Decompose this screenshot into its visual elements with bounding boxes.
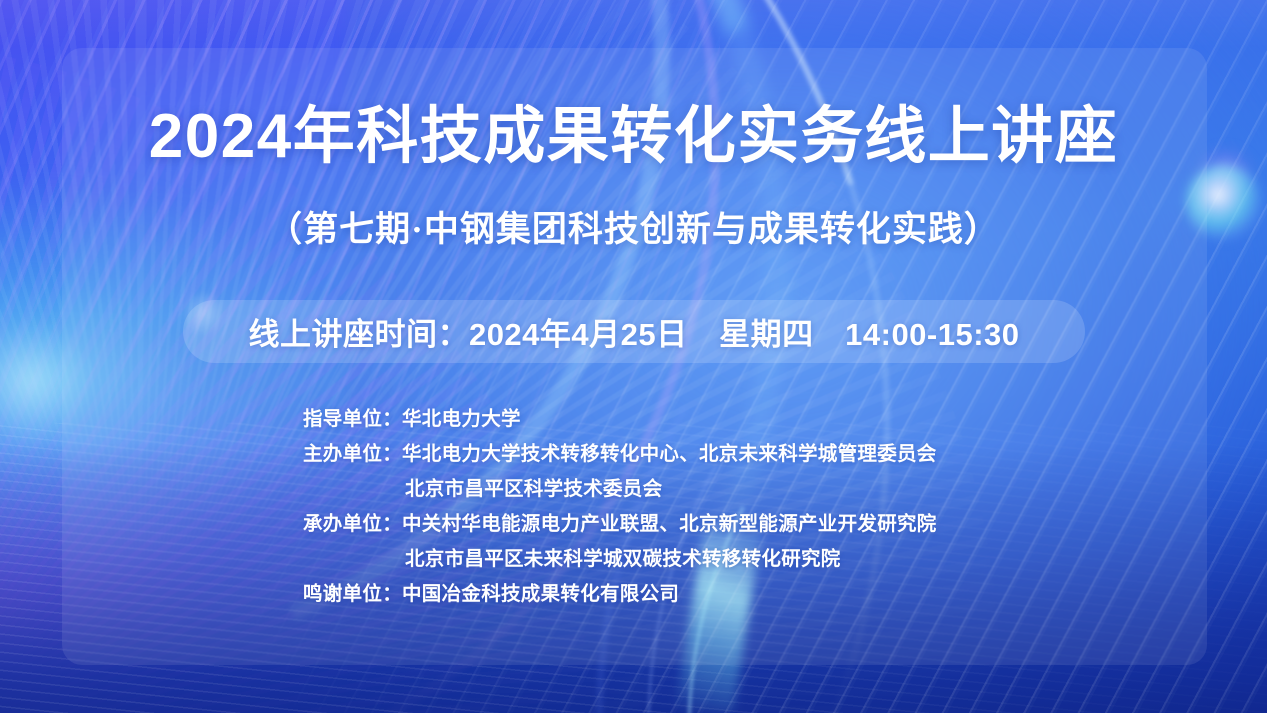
- credit-line-organizer-2: 北京市昌平区未来科学城双碳技术转移转化研究院: [303, 542, 1063, 577]
- credit-line-host-2: 北京市昌平区科学技术委员会: [303, 472, 1063, 507]
- credit-line-host: 主办单位：华北电力大学技术转移转化中心、北京未来科学城管理委员会: [303, 437, 1063, 472]
- page-subtitle: （第七期·中钢集团科技创新与成果转化实践）: [0, 212, 1267, 247]
- organizer-credits-list: 指导单位：华北电力大学 主办单位：华北电力大学技术转移转化中心、北京未来科学城管…: [303, 402, 1063, 612]
- poster-content: 2024年科技成果转化实务线上讲座 （第七期·中钢集团科技创新与成果转化实践） …: [0, 0, 1267, 713]
- schedule-banner: 线上讲座时间：2024年4月25日 星期四 14:00-15:30: [183, 300, 1085, 363]
- schedule-text: 线上讲座时间：2024年4月25日 星期四 14:00-15:30: [248, 309, 1019, 354]
- credit-line-guidance: 指导单位：华北电力大学: [303, 402, 1063, 437]
- credit-line-organizer: 承办单位：中关村华电能源电力产业联盟、北京新型能源产业开发研究院: [303, 507, 1063, 542]
- event-poster: 2024年科技成果转化实务线上讲座 （第七期·中钢集团科技创新与成果转化实践） …: [0, 0, 1267, 713]
- credit-line-thanks: 鸣谢单位：中国冶金科技成果转化有限公司: [303, 577, 1063, 612]
- page-title: 2024年科技成果转化实务线上讲座: [0, 106, 1267, 168]
